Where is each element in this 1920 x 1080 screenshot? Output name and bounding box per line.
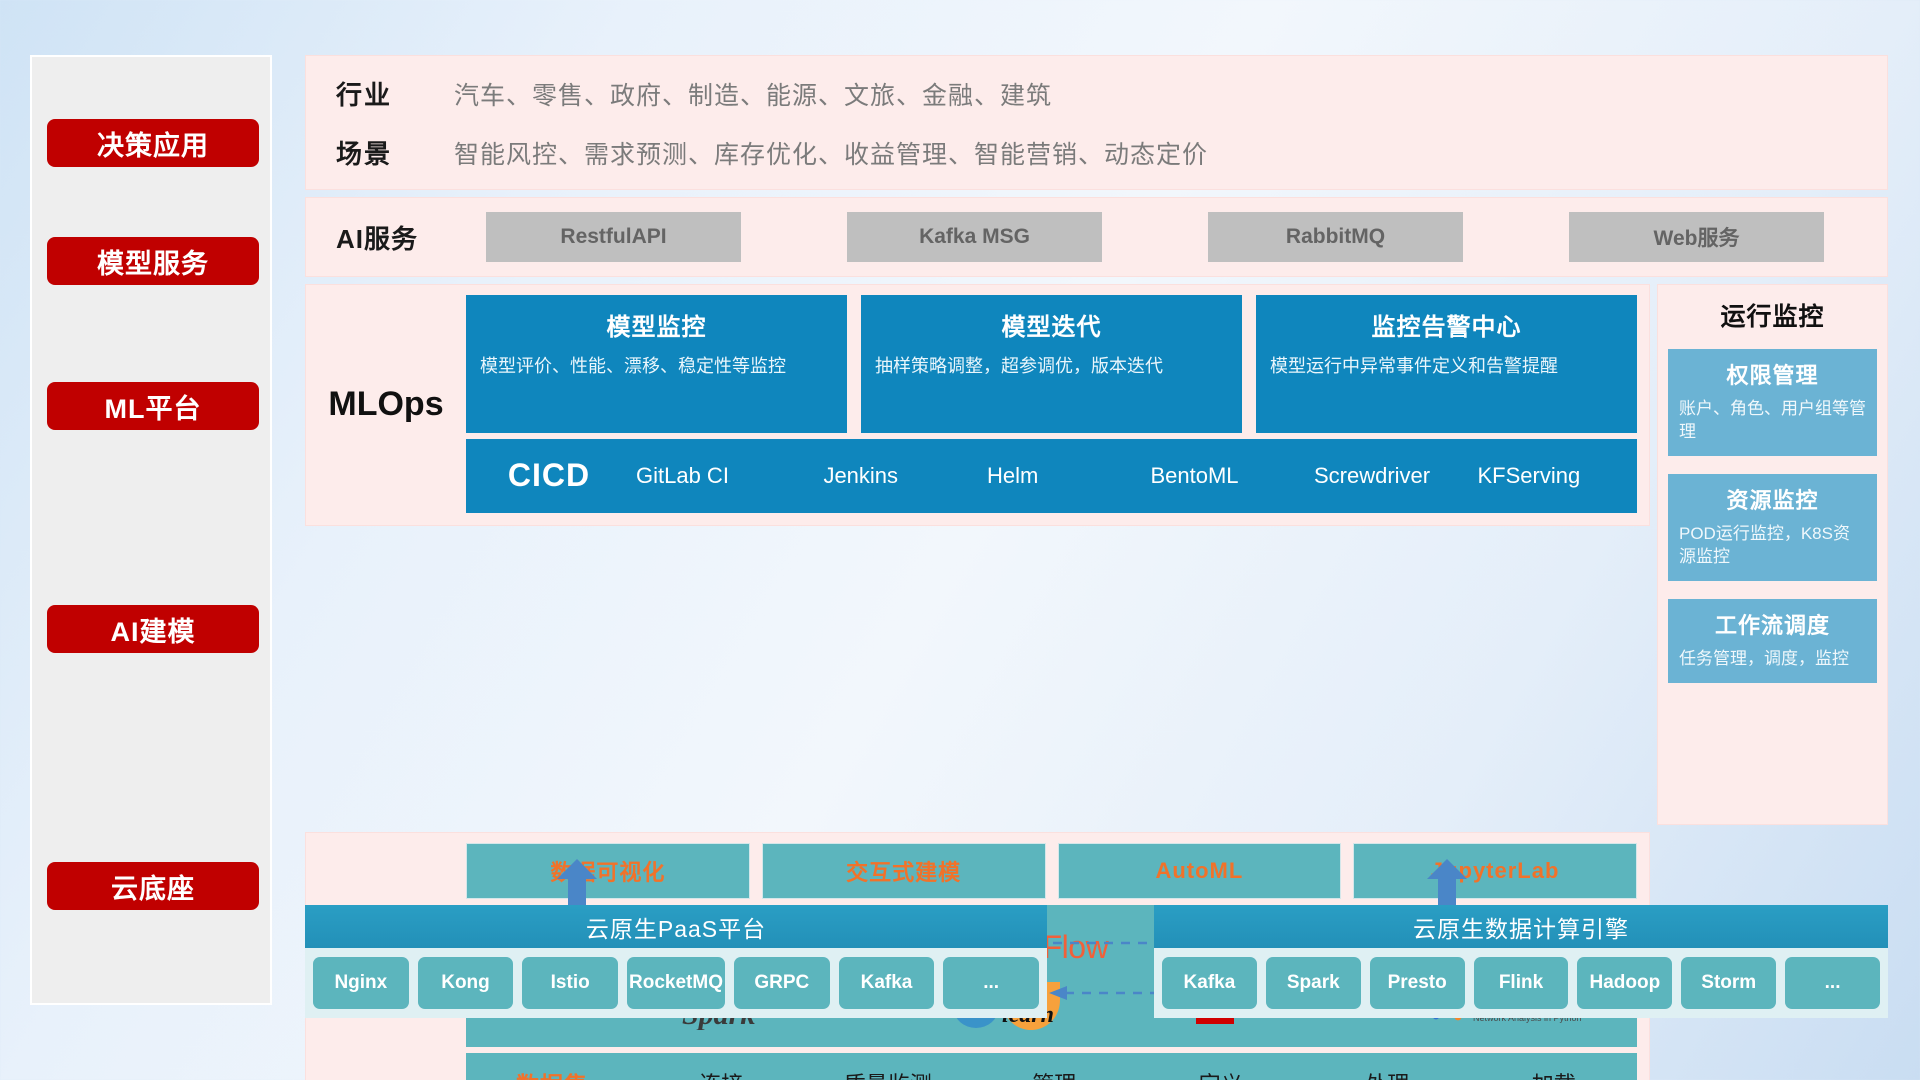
- dataset-row: 数据集 连接 质量监测 管理 定义 处理 加载: [466, 1053, 1637, 1080]
- ml-platform-row: MLOps 模型监控 模型评价、性能、漂移、稳定性等监控 模型迭代 抽样策略调整…: [305, 284, 1888, 825]
- rail-item-decision-apps[interactable]: 决策应用: [47, 119, 259, 167]
- ai-service-band: AI服务 RestfulAPI Kafka MSG RabbitMQ Web服务: [305, 197, 1888, 277]
- rail-item-label: 模型服务: [97, 242, 209, 281]
- mlops-card-model-iteration[interactable]: 模型迭代 抽样策略调整，超参调优，版本迭代: [861, 295, 1242, 433]
- paas-chip-nginx[interactable]: Nginx: [313, 957, 409, 1009]
- industry-values: 汽车、零售、政府、制造、能源、文旅、金融、建筑: [454, 76, 1052, 112]
- ai-service-chip-rabbitmq[interactable]: RabbitMQ: [1208, 212, 1463, 262]
- industry-row: 行业 汽车、零售、政府、制造、能源、文旅、金融、建筑: [336, 75, 1887, 112]
- card-title: 工作流调度: [1679, 608, 1866, 640]
- cloud-data-engine-group: 云原生数据计算引擎 Kafka Spark Presto Flink Hadoo…: [1154, 905, 1888, 1018]
- scenario-values: 智能风控、需求预测、库存优化、收益管理、智能营销、动态定价: [454, 135, 1208, 171]
- engine-chip-flink[interactable]: Flink: [1474, 957, 1569, 1009]
- cicd-bar: CICD GitLab CI Jenkins Helm BentoML Scre…: [466, 439, 1637, 513]
- engine-chip-hadoop[interactable]: Hadoop: [1577, 957, 1672, 1009]
- dataset-item-manage[interactable]: 管理: [971, 1067, 1138, 1080]
- mlops-band: MLOps 模型监控 模型评价、性能、漂移、稳定性等监控 模型迭代 抽样策略调整…: [305, 284, 1650, 526]
- up-arrow-icon-paas: [555, 859, 599, 905]
- monitor-card-resource[interactable]: 资源监控 POD运行监控，K8S资源监控: [1668, 474, 1877, 581]
- paas-chip-kafka[interactable]: Kafka: [839, 957, 935, 1009]
- decision-apps-band: 行业 汽车、零售、政府、制造、能源、文旅、金融、建筑 场景 智能风控、需求预测、…: [305, 55, 1888, 190]
- cicd-item-bentoml[interactable]: BentoML: [1146, 464, 1310, 488]
- ai-service-chip-kafka-msg[interactable]: Kafka MSG: [847, 212, 1102, 262]
- ai-service-chip-restfulapi[interactable]: RestfulAPI: [486, 212, 741, 262]
- ai-service-label: AI服务: [336, 219, 486, 256]
- dataset-item-define[interactable]: 定义: [1138, 1067, 1305, 1080]
- card-title: 模型监控: [480, 307, 833, 342]
- engine-chip-spark[interactable]: Spark: [1266, 957, 1361, 1009]
- engine-chip-kafka[interactable]: Kafka: [1162, 957, 1257, 1009]
- engine-chip-storm[interactable]: Storm: [1681, 957, 1776, 1009]
- card-title: 资源监控: [1679, 483, 1866, 515]
- cicd-item-screwdriver[interactable]: Screwdriver: [1310, 464, 1474, 488]
- card-desc: 模型评价、性能、漂移、稳定性等监控: [480, 354, 833, 380]
- rail-item-model-service[interactable]: 模型服务: [47, 237, 259, 285]
- card-title: 权限管理: [1679, 358, 1866, 390]
- cloud-paas-title: 云原生PaaS平台: [305, 905, 1047, 948]
- rail-item-label: AI建模: [111, 610, 196, 649]
- cloud-foundation-area: 云原生PaaS平台 Nginx Kong Istio RocketMQ GRPC…: [305, 875, 1888, 1055]
- cicd-label: CICD: [466, 457, 632, 494]
- cicd-item-helm[interactable]: Helm: [983, 464, 1147, 488]
- scenario-label: 场景: [336, 134, 454, 171]
- cicd-item-jenkins[interactable]: Jenkins: [819, 464, 983, 488]
- scenario-row: 场景 智能风控、需求预测、库存优化、收益管理、智能营销、动态定价: [336, 134, 1887, 171]
- monitor-card-permission[interactable]: 权限管理 账户、角色、用户组等管理: [1668, 349, 1877, 456]
- card-desc: 抽样策略调整，超参调优，版本迭代: [875, 354, 1228, 380]
- dataset-item-process[interactable]: 处理: [1304, 1067, 1471, 1080]
- ai-service-chip-web[interactable]: Web服务: [1569, 212, 1824, 262]
- rail-item-cloud-foundation[interactable]: 云底座: [47, 862, 259, 910]
- paas-chip-grpc[interactable]: GRPC: [734, 957, 830, 1009]
- stack-layer-rail: 决策应用 模型服务 ML平台 AI建模 云底座: [30, 55, 272, 1005]
- cloud-data-engine-title: 云原生数据计算引擎: [1154, 905, 1888, 948]
- runtime-monitoring-title: 运行监控: [1668, 297, 1877, 333]
- runtime-monitoring-panel: 运行监控 权限管理 账户、角色、用户组等管理 资源监控 POD运行监控，K8S资…: [1657, 284, 1888, 825]
- monitor-card-workflow[interactable]: 工作流调度 任务管理，调度，监控: [1668, 599, 1877, 683]
- dataset-item-quality-monitoring[interactable]: 质量监测: [805, 1067, 972, 1080]
- card-desc: 模型运行中异常事件定义和告警提醒: [1270, 354, 1623, 380]
- card-title: 监控告警中心: [1270, 307, 1623, 342]
- card-desc: 任务管理，调度，监控: [1679, 648, 1866, 671]
- engine-chip-presto[interactable]: Presto: [1370, 957, 1465, 1009]
- rail-item-ai-modeling[interactable]: AI建模: [47, 605, 259, 653]
- dataset-item-connect[interactable]: 连接: [638, 1067, 805, 1080]
- paas-chip-rocketmq[interactable]: RocketMQ: [627, 957, 725, 1009]
- card-desc: POD运行监控，K8S资源监控: [1679, 523, 1866, 569]
- industry-label: 行业: [336, 75, 454, 112]
- cicd-item-kfserving[interactable]: KFServing: [1474, 464, 1638, 488]
- paas-chip-more[interactable]: ...: [943, 957, 1039, 1009]
- paas-chip-kong[interactable]: Kong: [418, 957, 514, 1009]
- cloud-paas-group: 云原生PaaS平台 Nginx Kong Istio RocketMQ GRPC…: [305, 905, 1047, 1018]
- dataset-label: 数据集: [466, 1066, 638, 1080]
- rail-item-label: 决策应用: [97, 124, 209, 163]
- engine-chip-more[interactable]: ...: [1785, 957, 1880, 1009]
- card-desc: 账户、角色、用户组等管理: [1679, 398, 1866, 444]
- dataset-item-load[interactable]: 加载: [1471, 1067, 1638, 1080]
- mlops-card-model-monitoring[interactable]: 模型监控 模型评价、性能、漂移、稳定性等监控: [466, 295, 847, 433]
- paas-chip-istio[interactable]: Istio: [522, 957, 618, 1009]
- up-arrow-icon-data-engine: [1425, 859, 1469, 905]
- card-title: 模型迭代: [875, 307, 1228, 342]
- rail-item-ml-platform[interactable]: ML平台: [47, 382, 259, 430]
- rail-item-label: 云底座: [111, 867, 195, 906]
- mlops-label: MLOps: [306, 295, 466, 513]
- mlops-card-alert-center[interactable]: 监控告警中心 模型运行中异常事件定义和告警提醒: [1256, 295, 1637, 433]
- rail-item-label: ML平台: [105, 387, 202, 426]
- cicd-item-gitlab-ci[interactable]: GitLab CI: [632, 464, 819, 488]
